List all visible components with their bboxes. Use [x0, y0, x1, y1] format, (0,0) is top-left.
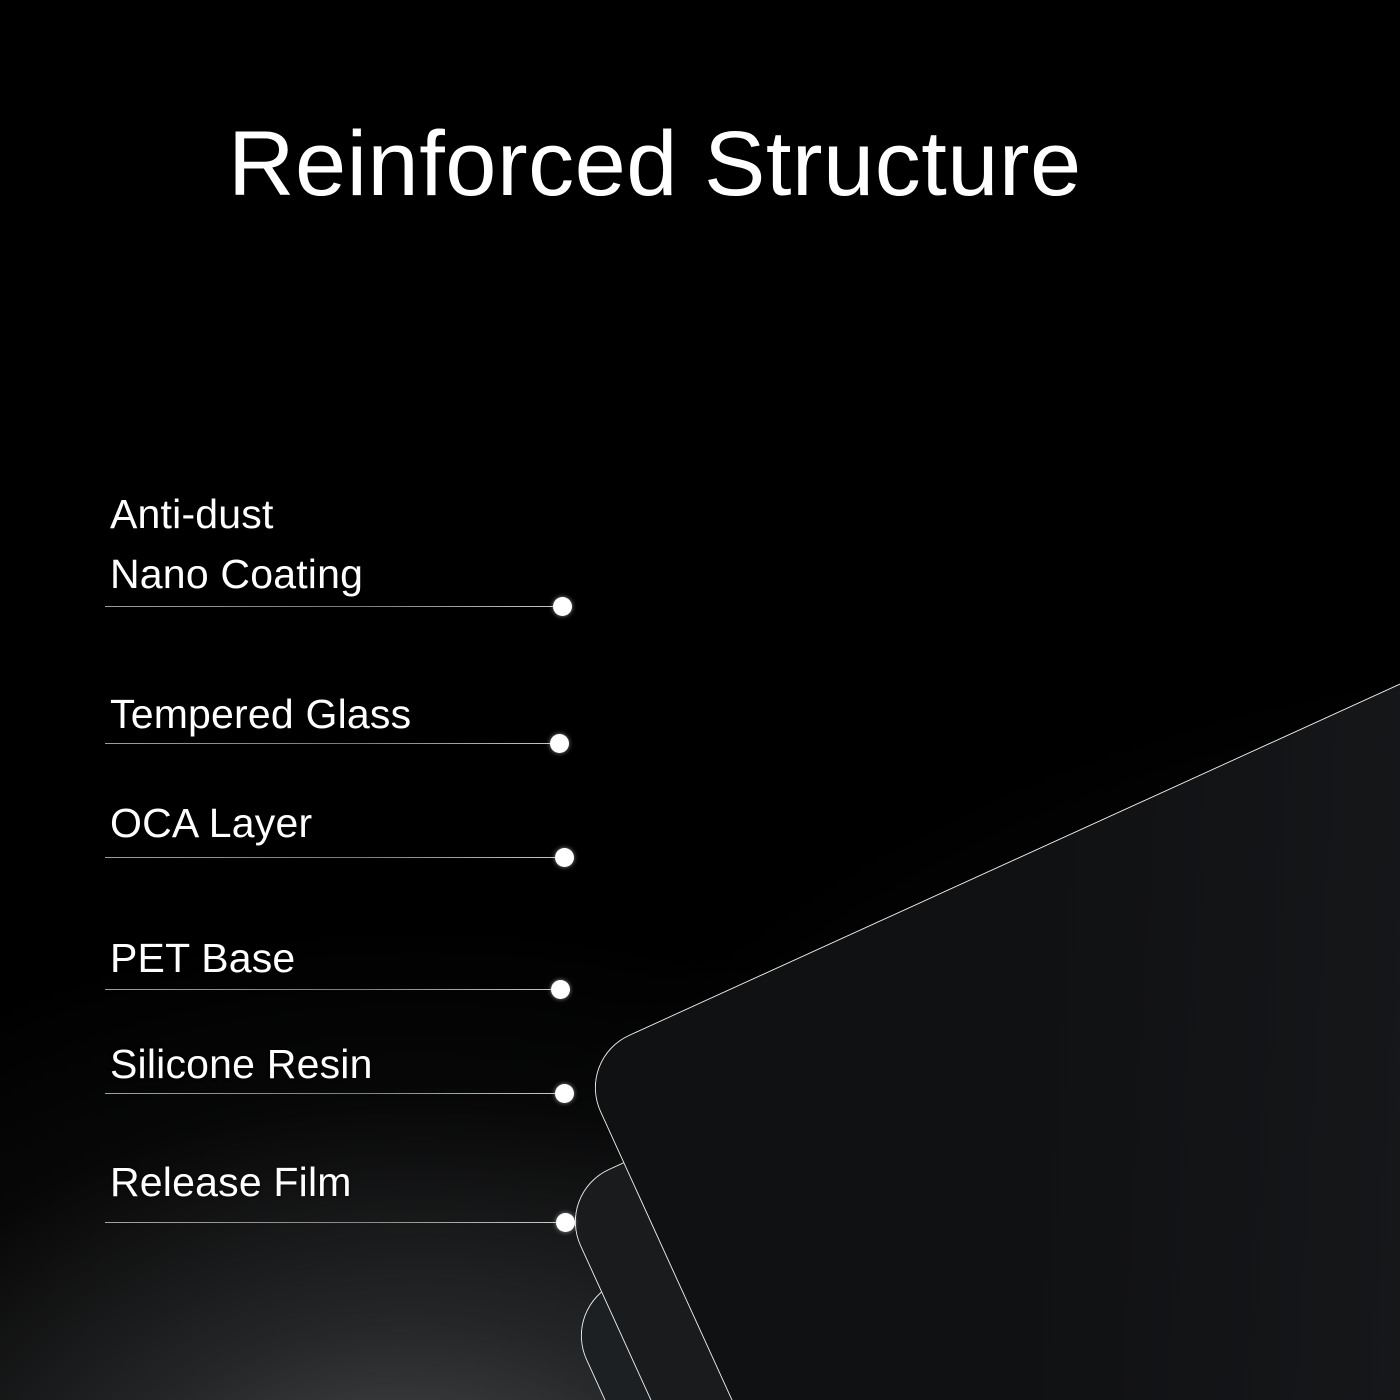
callout-label-silicone-resin: Silicone Resin: [110, 1034, 373, 1094]
callout-dot-anti-dust-nano-coating: [553, 597, 572, 616]
callout-dot-silicone-resin: [555, 1084, 574, 1103]
infographic-canvas: Anti-dust Nano CoatingTempered GlassOCA …: [0, 0, 1400, 1400]
callout-leader-line-pet-base: [105, 989, 555, 990]
callout-label-oca-layer: OCA Layer: [110, 793, 312, 853]
callout-leader-line-oca-layer: [105, 857, 559, 858]
callout-leader-line-tempered-glass: [105, 743, 554, 744]
callout-dot-tempered-glass: [550, 734, 569, 753]
callout-leader-line-silicone-resin: [105, 1093, 559, 1094]
callout-label-anti-dust-nano-coating: Anti-dust Nano Coating: [110, 484, 363, 604]
callout-dot-pet-base: [551, 980, 570, 999]
page-title: Reinforced Structure: [228, 112, 1082, 217]
callout-label-tempered-glass: Tempered Glass: [110, 684, 411, 744]
callout-dot-release-film: [556, 1213, 575, 1232]
callout-dot-oca-layer: [555, 848, 574, 867]
callout-leader-line-anti-dust-nano-coating: [105, 606, 557, 607]
callout-leader-line-release-film: [105, 1222, 563, 1223]
callout-label-pet-base: PET Base: [110, 928, 295, 988]
callout-label-release-film: Release Film: [110, 1152, 352, 1212]
